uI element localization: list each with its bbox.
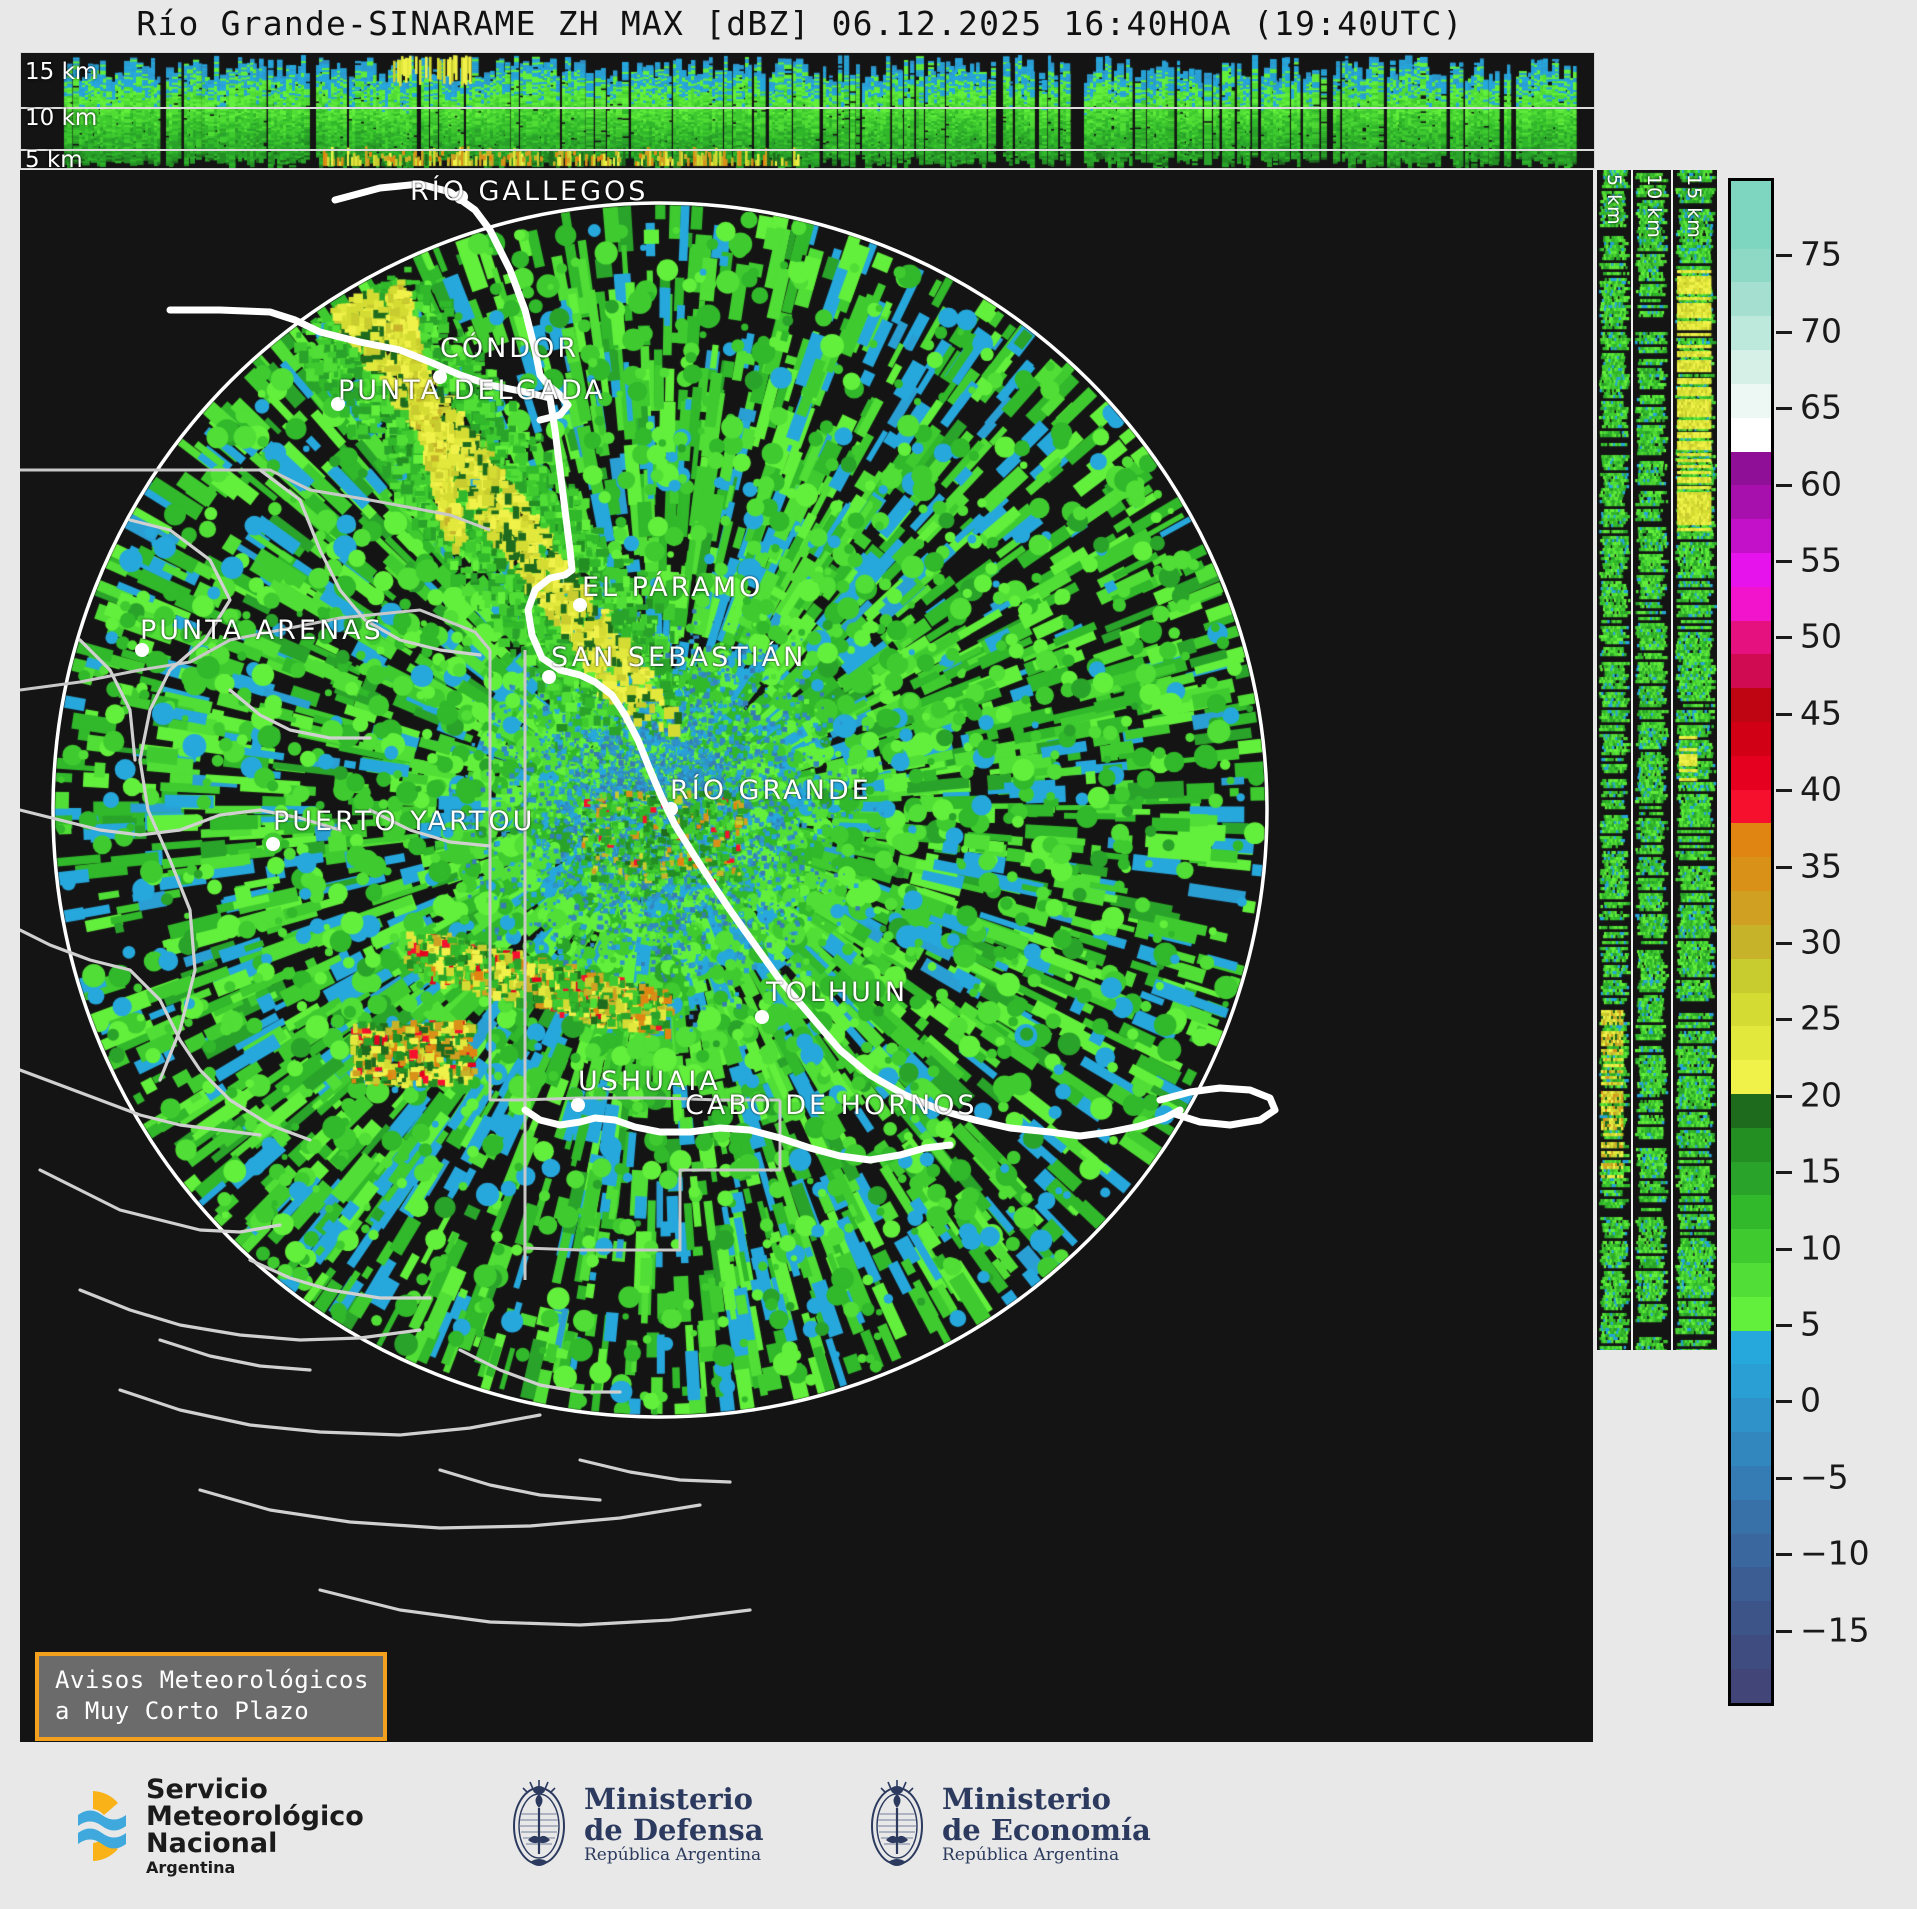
colorbar-segment [1731,249,1771,283]
city-label: CABO DE HORNOS [685,1090,978,1121]
economia-label-line1: Ministerio [942,1784,1151,1815]
colorbar-segment [1731,1635,1771,1669]
dbz-colorbar-ticks: 757065605550454035302520151050−5−10−15 [1776,178,1906,1706]
colorbar-segment [1731,1263,1771,1297]
colorbar-segment [1731,485,1771,519]
colorbar-tick-label: 70 [1800,311,1842,350]
colorbar-segment [1731,1026,1771,1060]
colorbar-tick-label: 25 [1800,999,1842,1038]
colorbar-segment [1731,790,1771,824]
colorbar-segment [1731,722,1771,756]
colorbar-tick-label: −5 [1800,1457,1849,1496]
colorbar-segment [1731,1567,1771,1601]
altitude-label-10km: 10 km [25,105,97,131]
page-title: Río Grande-SINARAME ZH MAX [dBZ] 06.12.2… [0,4,1600,43]
economia-label-line3: República Argentina [942,1846,1151,1864]
defensa-label-line2: de Defensa [584,1815,764,1846]
colorbar-segment [1731,823,1771,857]
city-label: PUERTO YARTOU [273,806,535,837]
smn-label-line3: Nacional [146,1830,364,1857]
colorbar-segment [1731,553,1771,587]
colorbar-tick-label: 75 [1800,235,1842,274]
colorbar-tick-label: 55 [1800,541,1842,580]
colorbar-segment [1731,688,1771,722]
colorbar-segment [1731,1094,1771,1128]
right-cross-section-panel: 5 km 10 km 15 km [1597,170,1717,1350]
colorbar-tick-label: 30 [1800,923,1842,962]
colorbar-tick [1776,560,1792,563]
colorbar-tick [1776,1630,1792,1633]
top-cross-section-panel: 15 km 10 km 5 km [20,52,1595,169]
colorbar-segment [1731,1466,1771,1500]
logo-ministerio-defensa: Ministerio de Defensa República Argentin… [508,1774,764,1874]
vsep-1 [1631,170,1633,1350]
colorbar-tick-label: 20 [1800,1075,1842,1114]
smn-label-line4: Argentina [146,1860,364,1876]
colorbar-tick-label: −10 [1800,1534,1870,1573]
city-label: TOLHUIN [766,977,908,1008]
colorbar-tick [1776,254,1792,257]
colorbar-tick-label: 50 [1800,617,1842,656]
colorbar-tick-label: 10 [1800,1228,1842,1267]
colorbar-tick [1776,331,1792,334]
vertical-altitude-label-5km: 5 km [1603,174,1625,226]
city-marker-dot[interactable] [755,1010,769,1024]
colorbar-tick [1776,407,1792,410]
colorbar-segment [1731,519,1771,553]
logo-ministerio-economia: Ministerio de Economía República Argenti… [866,1774,1151,1874]
colorbar-tick-label: 45 [1800,693,1842,732]
colorbar-tick [1776,866,1792,869]
colorbar-tick [1776,1477,1792,1480]
colorbar-segment [1731,316,1771,350]
city-label: PUNTA ARENAS [140,615,384,646]
colorbar-segment [1731,1364,1771,1398]
colorbar-segment [1731,215,1771,249]
warning-line-1: Avisos Meteorológicos [55,1665,369,1696]
vertical-altitude-label-10km: 10 km [1643,174,1665,239]
colorbar-tick-label: 15 [1800,1152,1842,1191]
colorbar-tick-label: 35 [1800,846,1842,885]
colorbar-tick [1776,1095,1792,1098]
colorbar-segment [1731,925,1771,959]
colorbar-segment [1731,282,1771,316]
gridline-5km [21,149,1594,151]
city-label: RÍO GALLEGOS [410,176,648,207]
gridline-10km [21,107,1594,109]
colorbar-segment [1731,654,1771,688]
argentina-coat-of-arms-icon [508,1774,570,1874]
footer-logos: Servicio Meteorológico Nacional Argentin… [0,1752,1917,1909]
vertical-altitude-label-15km: 15 km [1683,174,1705,239]
colorbar-tick [1776,636,1792,639]
colorbar-segment [1731,1060,1771,1094]
city-label: SAN SEBASTIÁN [551,642,806,673]
economia-label-line2: de Economía [942,1815,1151,1846]
city-marker-dot[interactable] [571,1098,585,1112]
colorbar-segment [1731,857,1771,891]
altitude-label-5km: 5 km [25,147,83,169]
colorbar-tick [1776,1400,1792,1403]
colorbar-tick [1776,1018,1792,1021]
range-ring [53,203,1267,1417]
colorbar-segment [1731,1500,1771,1534]
colorbar-segment [1731,1432,1771,1466]
argentina-coat-of-arms-icon-2 [866,1774,928,1874]
colorbar-tick [1776,713,1792,716]
warning-line-2: a Muy Corto Plazo [55,1696,369,1727]
colorbar-segment [1731,891,1771,925]
radar-ppi-panel[interactable]: RÍO GALLEGOSCÓNDORPUNTA DELGADAEL PÁRAMO… [20,170,1593,1742]
colorbar-tick-label: 60 [1800,464,1842,503]
colorbar-tick [1776,484,1792,487]
city-marker-dot[interactable] [266,837,280,851]
colorbar-segment [1731,1297,1771,1331]
colorbar-tick-label: 5 [1800,1305,1821,1344]
colorbar-segment [1731,181,1771,215]
smn-logo-icon [52,1785,134,1867]
map-overlay [20,170,1593,1742]
colorbar-segment [1731,587,1771,621]
colorbar-segment [1731,1669,1771,1703]
defensa-label-line1: Ministerio [584,1784,764,1815]
city-label: EL PÁRAMO [582,572,763,603]
altitude-label-15km: 15 km [25,59,97,85]
colorbar-segment [1731,1398,1771,1432]
colorbar-tick [1776,1171,1792,1174]
colorbar-tick-label: 40 [1800,770,1842,809]
smn-label-line1: Servicio [146,1776,364,1803]
colorbar-segment [1731,350,1771,384]
nowcast-warning-box[interactable]: Avisos Meteorológicos a Muy Corto Plazo [35,1652,387,1741]
colorbar-segment [1731,1128,1771,1162]
right-cross-section-canvas [1597,170,1717,1350]
colorbar-segment [1731,452,1771,486]
colorbar-segment [1731,1195,1771,1229]
colorbar-tick [1776,1553,1792,1556]
city-label: RÍO GRANDE [670,775,872,806]
smn-label-line2: Meteorológico [146,1803,364,1830]
colorbar-segment [1731,1331,1771,1365]
colorbar-tick-label: 0 [1800,1381,1821,1420]
dbz-colorbar [1728,178,1774,1706]
colorbar-segment [1731,418,1771,452]
vsep-2 [1671,170,1673,1350]
colorbar-segment [1731,756,1771,790]
colorbar-segment [1731,1162,1771,1196]
colorbar-tick-label: 65 [1800,388,1842,427]
colorbar-segment [1731,1229,1771,1263]
colorbar-segment [1731,621,1771,655]
city-label: PUNTA DELGADA [338,375,606,406]
logo-smn: Servicio Meteorológico Nacional Argentin… [52,1776,364,1876]
colorbar-segment [1731,384,1771,418]
colorbar-tick [1776,1248,1792,1251]
colorbar-segment [1731,959,1771,993]
colorbar-segment [1731,1534,1771,1568]
colorbar-tick [1776,942,1792,945]
colorbar-segment [1731,1601,1771,1635]
colorbar-tick [1776,789,1792,792]
city-label: CÓNDOR [440,333,579,364]
colorbar-segment [1731,993,1771,1027]
defensa-label-line3: República Argentina [584,1846,764,1864]
colorbar-tick [1776,1324,1792,1327]
colorbar-tick-label: −15 [1800,1610,1870,1649]
